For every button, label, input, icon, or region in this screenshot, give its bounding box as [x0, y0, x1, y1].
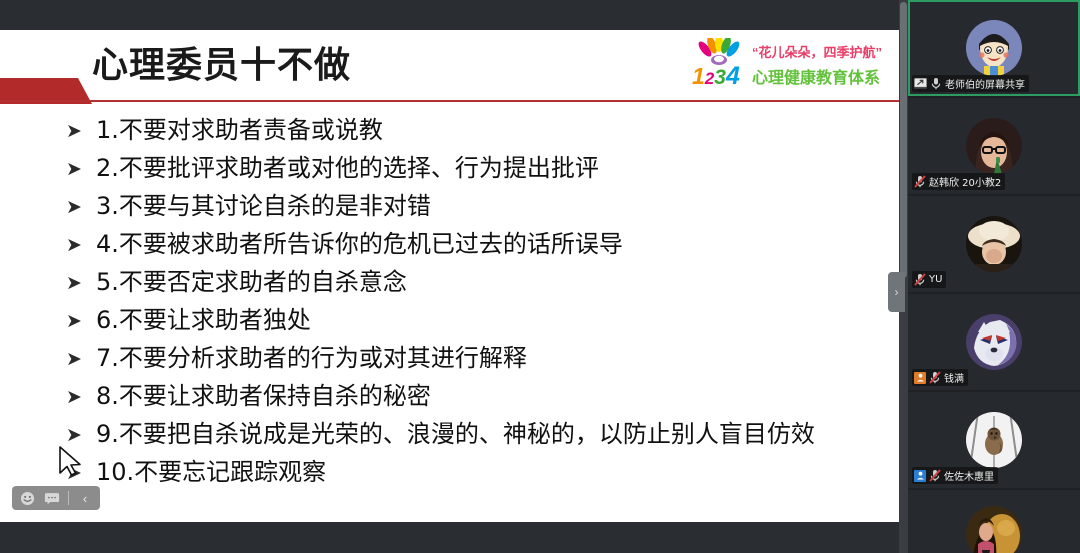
- panel-expand-handle[interactable]: ›: [888, 272, 905, 312]
- arrow-bullet-icon: ➤: [66, 426, 96, 445]
- avatar: [966, 506, 1022, 553]
- participant-filmstrip[interactable]: 老师伯的屏幕共享: [908, 0, 1080, 553]
- cartoon-face-icon: [966, 20, 1022, 76]
- slide-title: 心理委员十不做: [92, 36, 351, 88]
- list-item: ➤ 8.不要让求助者保持自杀的秘密: [0, 376, 908, 414]
- participant-label: 老师伯的屏幕共享: [912, 75, 1029, 92]
- floating-reaction-toolbar[interactable]: ‹: [12, 486, 100, 510]
- participant-name: 佐佐木惠里: [944, 468, 994, 483]
- arrow-bullet-icon: ➤: [66, 198, 96, 217]
- participant-tile[interactable]: YU: [908, 196, 1080, 292]
- list-item-text: 5.不要否定求助者的自杀意念: [96, 262, 407, 297]
- microphone-muted-icon: [929, 469, 941, 482]
- avatar: [966, 118, 1022, 174]
- participant-tile[interactable]: [908, 490, 1080, 553]
- screen-share-icon: [914, 78, 927, 89]
- arrow-bullet-icon: ➤: [66, 312, 96, 331]
- stage-bottom-letterbox: [0, 522, 908, 553]
- chat-bubble-icon[interactable]: [41, 488, 63, 508]
- list-item: ➤ 3.不要与其讨论自杀的是非对错: [0, 186, 908, 224]
- list-item: ➤ 2.不要批评求助者或对他的选择、行为提出批评: [0, 148, 908, 186]
- logo-digit-3: 3: [714, 66, 726, 89]
- logo-subtitle: 心理健康教育体系: [752, 64, 880, 88]
- photo-warm-icon: [966, 506, 1022, 553]
- participant-tile[interactable]: 佐佐木惠里: [908, 392, 1080, 488]
- list-item: ➤ 9.不要把自杀说成是光荣的、浪漫的、神秘的，以防止别人盲目仿效: [0, 414, 908, 452]
- game-wolf-icon: [966, 314, 1022, 370]
- arrow-bullet-icon: ➤: [66, 388, 96, 407]
- participant-label: 钱满: [912, 369, 968, 386]
- avatar: [966, 314, 1022, 370]
- meeting-screen-share-view: 心理委员十不做 1234 “花: [0, 0, 1080, 553]
- participant-label: 赵韩欣 20小教2: [912, 173, 1005, 190]
- microphone-muted-icon: [914, 273, 926, 286]
- stage-top-letterbox: [0, 0, 908, 30]
- person-badge-icon: [914, 470, 926, 482]
- list-item: ➤ 7.不要分析求助者的行为或对其进行解释: [0, 338, 908, 376]
- arrow-bullet-icon: ➤: [66, 122, 96, 141]
- photo-woman-glasses-icon: [966, 118, 1022, 174]
- microphone-muted-icon: [929, 371, 941, 384]
- list-item-text: 7.不要分析求助者的行为或对其进行解释: [96, 338, 527, 373]
- microphone-icon: [930, 77, 942, 90]
- shared-screen-stage: 心理委员十不做 1234 “花: [0, 0, 908, 553]
- logo-digit-4: 4: [726, 62, 740, 90]
- microphone-muted-icon: [914, 175, 926, 188]
- participant-name: 钱满: [944, 370, 964, 385]
- participant-label: 佐佐木惠里: [912, 467, 998, 484]
- participant-name: 老师伯的屏幕共享: [945, 76, 1025, 91]
- mouse-cursor: [58, 446, 84, 476]
- logo-digits: 1234: [692, 64, 740, 89]
- list-item: ➤ 1.不要对求助者责备或说教: [0, 110, 908, 148]
- logo-digit-1: 1: [692, 63, 705, 89]
- list-item: ➤ 10.不要忘记跟踪观察: [0, 452, 908, 490]
- photo-sparrow-icon: [966, 412, 1022, 468]
- arrow-bullet-icon: ➤: [66, 350, 96, 369]
- logo-slogan: “花儿朵朵，四季护航”: [752, 42, 882, 61]
- list-item-text: 2.不要批评求助者或对他的选择、行为提出批评: [96, 148, 599, 183]
- filmstrip-scrollbar-thumb[interactable]: [900, 2, 907, 278]
- list-item-text: 10.不要忘记跟踪观察: [96, 452, 326, 487]
- chevron-left-icon[interactable]: ‹: [74, 488, 96, 508]
- participant-label: YU: [912, 271, 946, 288]
- list-item-text: 6.不要让求助者独处: [96, 300, 311, 335]
- avatar: [966, 216, 1022, 272]
- participant-tile[interactable]: 钱满: [908, 294, 1080, 390]
- slide-bullet-list: ➤ 1.不要对求助者责备或说教 ➤ 2.不要批评求助者或对他的选择、行为提出批评…: [0, 110, 908, 490]
- participant-tile[interactable]: 赵韩欣 20小教2: [908, 98, 1080, 194]
- list-item-text: 9.不要把自杀说成是光荣的、浪漫的、神秘的，以防止别人盲目仿效: [96, 414, 815, 449]
- participant-name: 赵韩欣 20小教2: [929, 174, 1001, 189]
- list-item-text: 1.不要对求助者责备或说教: [96, 110, 383, 145]
- slide-title-area: 心理委员十不做 1234 “花: [0, 30, 908, 98]
- organization-logo: 1234 “花儿朵朵，四季护航” 心理健康教育体系: [690, 38, 886, 96]
- avatar: [966, 20, 1022, 76]
- list-item-text: 4.不要被求助者所告诉你的危机已过去的话所误导: [96, 224, 623, 259]
- arrow-bullet-icon: ➤: [66, 274, 96, 293]
- presentation-slide: 心理委员十不做 1234 “花: [0, 30, 908, 522]
- title-underline: [0, 100, 908, 102]
- arrow-bullet-icon: ➤: [66, 236, 96, 255]
- list-item: ➤ 6.不要让求助者独处: [0, 300, 908, 338]
- participant-name: YU: [929, 274, 942, 285]
- list-item-text: 3.不要与其讨论自杀的是非对错: [96, 186, 431, 221]
- photo-child-hat-icon: [966, 216, 1022, 272]
- avatar: [966, 412, 1022, 468]
- list-item: ➤ 5.不要否定求助者的自杀意念: [0, 262, 908, 300]
- person-badge-icon: [914, 372, 926, 384]
- participant-tile[interactable]: 老师伯的屏幕共享: [908, 0, 1080, 96]
- list-item: ➤ 4.不要被求助者所告诉你的危机已过去的话所误导: [0, 224, 908, 262]
- arrow-bullet-icon: ➤: [66, 160, 96, 179]
- logo-digit-2: 2: [705, 69, 714, 88]
- toolbar-divider: [68, 491, 69, 505]
- list-item-text: 8.不要让求助者保持自杀的秘密: [96, 376, 431, 411]
- smiley-icon[interactable]: [16, 488, 38, 508]
